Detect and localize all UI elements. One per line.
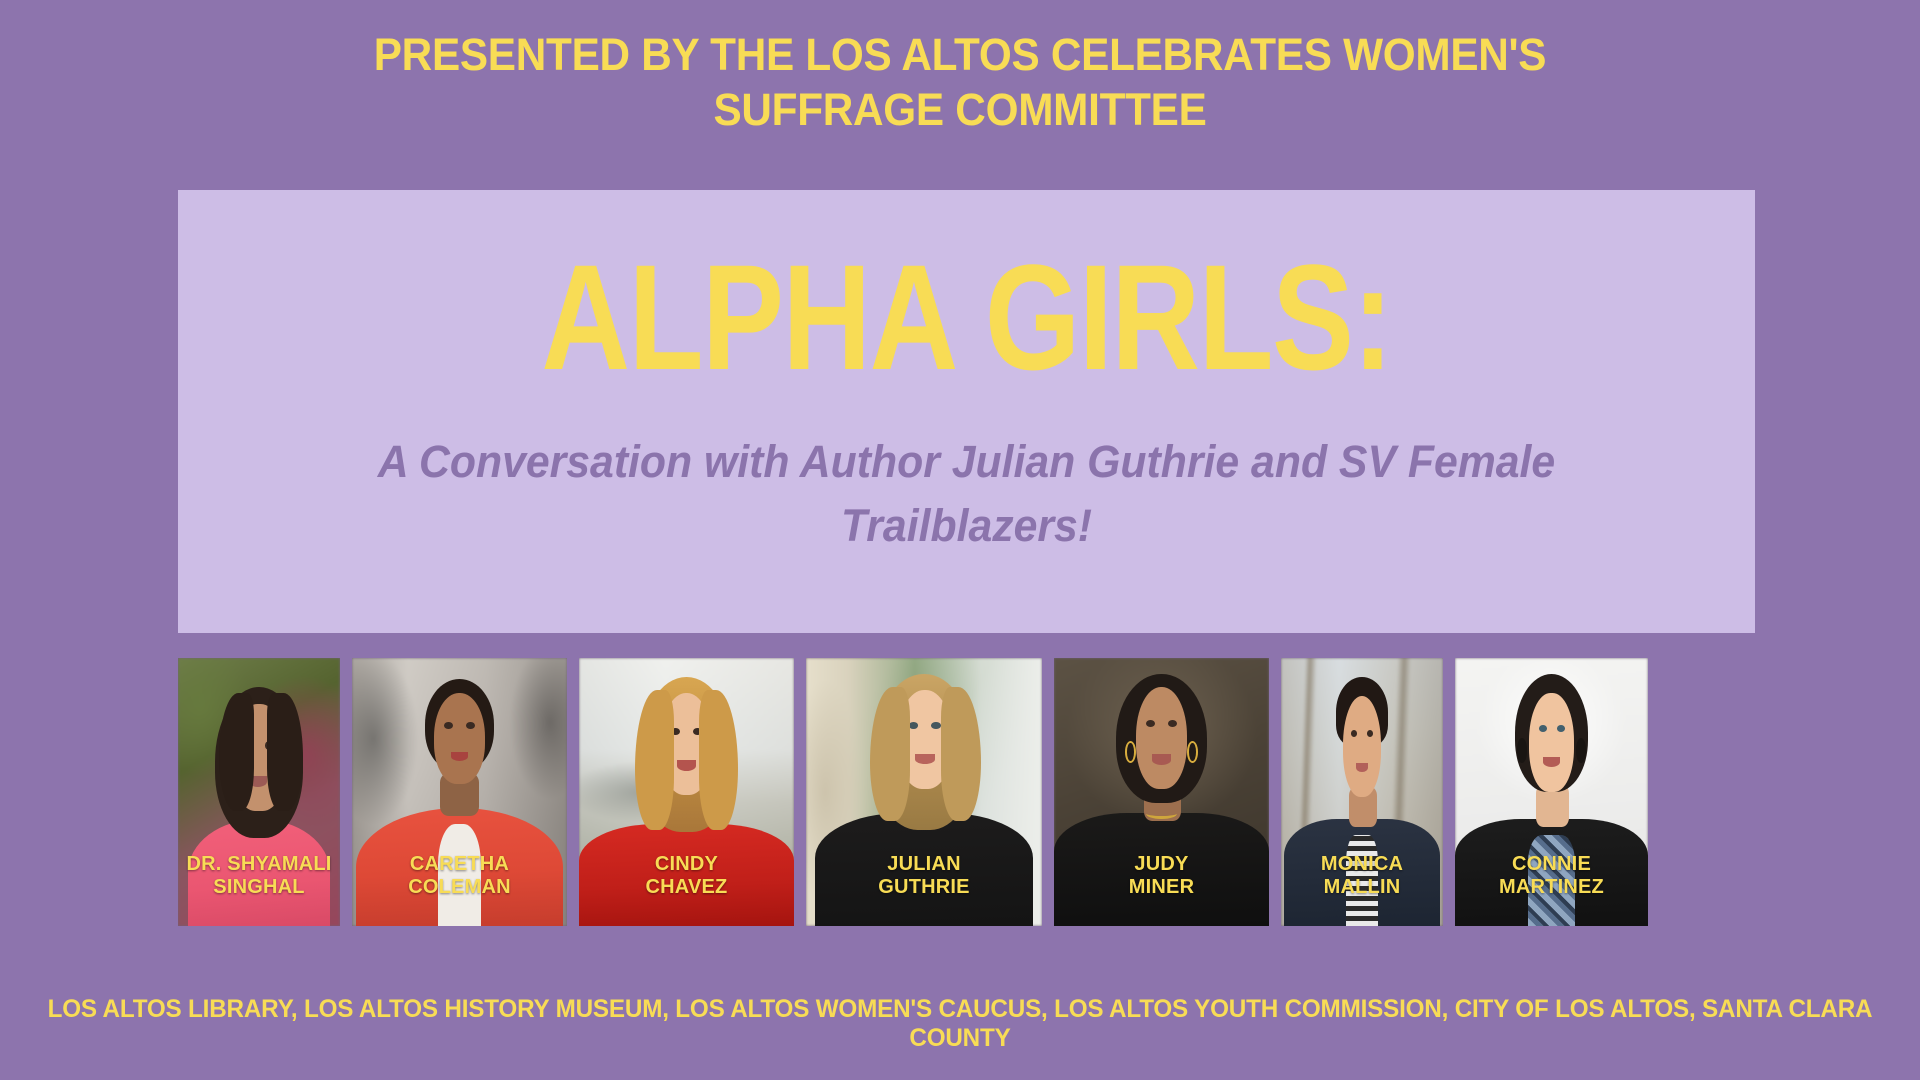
title-panel: ALPHA GIRLS: A Conversation with Author … bbox=[178, 190, 1755, 633]
speaker-portrait-strip: DR. SHYAMALI SINGHAL CARETHA C bbox=[178, 658, 1756, 926]
speaker-card[interactable]: CARETHA COLEMAN bbox=[352, 658, 567, 926]
event-poster: PRESENTED BY THE LOS ALTOS CELEBRATES WO… bbox=[0, 0, 1920, 1080]
speaker-card[interactable]: CONNIE MARTINEZ bbox=[1455, 658, 1648, 926]
poster-header: PRESENTED BY THE LOS ALTOS CELEBRATES WO… bbox=[58, 28, 1863, 138]
header-line-1: PRESENTED BY THE LOS ALTOS CELEBRATES WO… bbox=[236, 28, 1684, 83]
speaker-name: JULIAN GUTHRIE bbox=[808, 853, 1040, 900]
speaker-card[interactable]: CINDY CHAVEZ bbox=[579, 658, 794, 926]
speaker-name: JUDY MINER bbox=[1056, 853, 1267, 900]
speaker-card[interactable]: JUDY MINER bbox=[1054, 658, 1269, 926]
panel-subtitle: A Conversation with Author Julian Guthri… bbox=[308, 430, 1626, 558]
sponsor-footer: LOS ALTOS LIBRARY, LOS ALTOS HISTORY MUS… bbox=[29, 995, 1891, 1053]
speaker-name: DR. SHYAMALI SINGHAL bbox=[180, 853, 338, 900]
speaker-name: MONICA MALLIN bbox=[1283, 853, 1441, 900]
speaker-card[interactable]: JULIAN GUTHRIE bbox=[806, 658, 1042, 926]
speaker-name: CINDY CHAVEZ bbox=[581, 853, 792, 900]
speaker-name: CARETHA COLEMAN bbox=[354, 853, 565, 900]
speaker-name: CONNIE MARTINEZ bbox=[1457, 853, 1646, 900]
speaker-card[interactable]: MONICA MALLIN bbox=[1281, 658, 1443, 926]
header-line-2: SUFFRAGE COMMITTEE bbox=[236, 83, 1684, 138]
speaker-card[interactable]: DR. SHYAMALI SINGHAL bbox=[178, 658, 340, 926]
page-title: ALPHA GIRLS: bbox=[320, 242, 1613, 392]
